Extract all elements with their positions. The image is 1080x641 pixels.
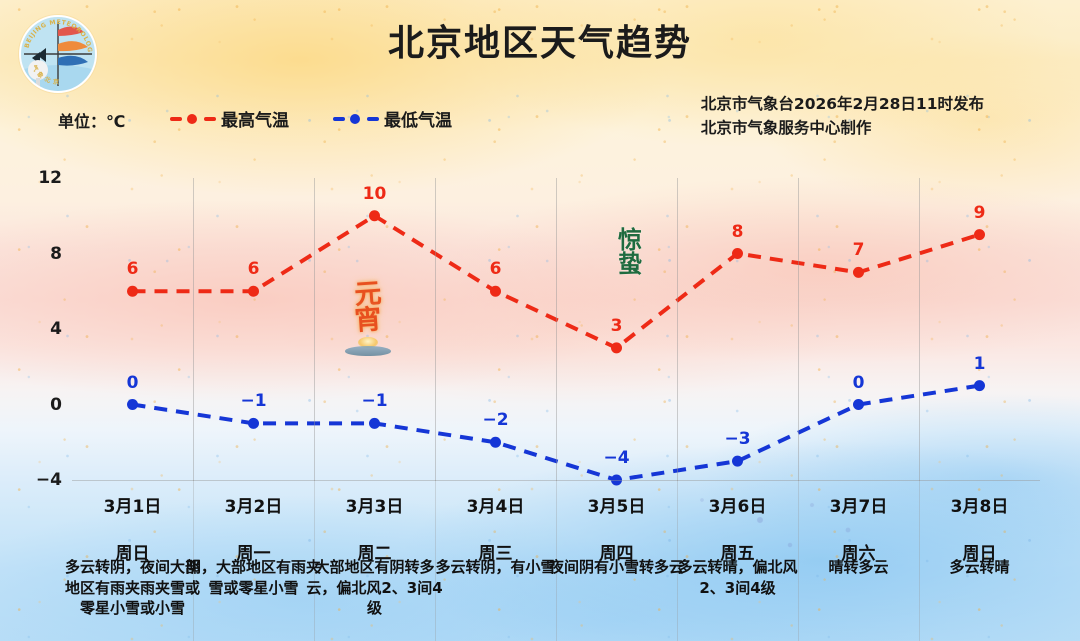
data-point-label: −2: [482, 410, 508, 430]
chart-gridline-vertical: [798, 178, 799, 481]
chart-gridline-vertical: [193, 178, 194, 481]
data-point: [248, 418, 259, 429]
y-axis-tick-label: 0: [50, 395, 62, 415]
data-point-label: −3: [724, 429, 750, 449]
y-axis-tick-label: 12: [38, 168, 62, 188]
jingzhe-char-2: 蛰: [600, 252, 660, 276]
data-point: [248, 286, 259, 297]
weather-description: 多云转阴，夜间大部地区有雨夹雨夹雪或零星小雪或小雪: [64, 557, 201, 619]
y-axis-tick-label: 8: [50, 244, 62, 264]
data-point-label: 7: [853, 240, 865, 260]
data-point: [127, 286, 138, 297]
weather-description: 大部地区有阴转多云，偏北风2、3间4级: [306, 557, 443, 619]
data-point: [369, 210, 380, 221]
data-point: [490, 286, 501, 297]
date-label: 3月7日: [798, 492, 919, 517]
date-cell: 3月2日周一: [193, 492, 314, 564]
date-cell: 3月1日周日: [72, 492, 193, 564]
data-point: [127, 399, 138, 410]
legend-marker-low-icon: [333, 110, 379, 127]
y-axis: 12840−4: [0, 178, 72, 480]
weather-description: 多云转晴，偏北风2、3间4级: [669, 557, 806, 598]
data-point-label: 10: [363, 184, 387, 204]
weather-trend-infographic: BEIJING METEOROLOGICAL SERVICE 气 象 北 京 北…: [0, 0, 1080, 641]
date-label: 3月5日: [556, 492, 677, 517]
date-cell: 3月7日周六: [798, 492, 919, 564]
date-cell: 3月4日周三: [435, 492, 556, 564]
data-point-label: 3: [611, 316, 623, 336]
date-label: 3月6日: [677, 492, 798, 517]
data-point: [490, 437, 501, 448]
chart-gridline-vertical: [919, 178, 920, 481]
date-label: 3月1日: [72, 492, 193, 517]
data-point-label: 0: [127, 373, 139, 393]
issuer-info: 北京市气象台2026年2月28日11时发布 北京市气象服务中心制作: [701, 92, 984, 140]
legend-marker-high-icon: [170, 110, 216, 127]
data-point-label: −1: [361, 391, 387, 411]
date-cell: 3月5日周四: [556, 492, 677, 564]
weather-description: 多云转阴，有小雪: [427, 557, 564, 578]
lantern-icon: [345, 337, 391, 357]
y-axis-tick-label: 4: [50, 319, 62, 339]
date-cell: 3月6日周五: [677, 492, 798, 564]
chart-legend: 最高气温 最低气温: [170, 106, 452, 131]
unit-label: 单位：℃: [58, 108, 125, 132]
yuanxiao-char-2: 宵: [335, 306, 401, 337]
issuer-line-1: 北京市气象台2026年2月28日11时发布: [701, 92, 984, 116]
legend-label-low: 最低气温: [384, 106, 452, 131]
jingzhe-solar-term-mark: 惊 蛰: [600, 228, 660, 277]
y-axis-tick-label: −4: [36, 470, 62, 490]
data-point-label: 6: [127, 259, 139, 279]
chart-gridline-vertical: [314, 178, 315, 481]
data-point: [732, 248, 743, 259]
data-point: [732, 456, 743, 467]
data-point: [611, 342, 622, 353]
yuanxiao-festival-mark: 元 宵: [336, 282, 400, 378]
legend-label-high: 最高气温: [221, 106, 289, 131]
weather-description: 夜间阴有小雪转多云: [548, 557, 685, 578]
chart-gridline-vertical: [556, 178, 557, 481]
weather-description: 阴，大部地区有雨夹雪或零星小雪: [185, 557, 322, 598]
legend-item-high-temperature: 最高气温: [170, 106, 289, 131]
chart-gridline-vertical: [435, 178, 436, 481]
date-label: 3月4日: [435, 492, 556, 517]
data-point-label: 0: [853, 373, 865, 393]
date-label: 3月2日: [193, 492, 314, 517]
data-point: [853, 267, 864, 278]
date-cell: 3月3日周二: [314, 492, 435, 564]
weather-description: 晴转多云: [790, 557, 927, 578]
data-point: [974, 380, 985, 391]
page-title: 北京地区天气趋势: [0, 14, 1080, 66]
data-point: [369, 418, 380, 429]
chart-plot-area: 6610638790−1−1−2−4−301: [72, 178, 1040, 480]
data-point-label: 6: [248, 259, 260, 279]
data-point-label: 6: [490, 259, 502, 279]
data-point: [853, 399, 864, 410]
chart-gridline-vertical: [677, 178, 678, 481]
data-point-label: 1: [974, 354, 986, 374]
date-label: 3月8日: [919, 492, 1040, 517]
data-point-label: 8: [732, 222, 744, 242]
date-cell: 3月8日周日: [919, 492, 1040, 564]
data-point-label: −4: [603, 448, 629, 468]
legend-item-low-temperature: 最低气温: [333, 106, 452, 131]
data-point-label: 9: [974, 203, 986, 223]
data-point-label: −1: [240, 391, 266, 411]
weather-description: 多云转晴: [911, 557, 1048, 578]
issuer-line-2: 北京市气象服务中心制作: [701, 116, 984, 140]
data-point: [974, 229, 985, 240]
date-label: 3月3日: [314, 492, 435, 517]
